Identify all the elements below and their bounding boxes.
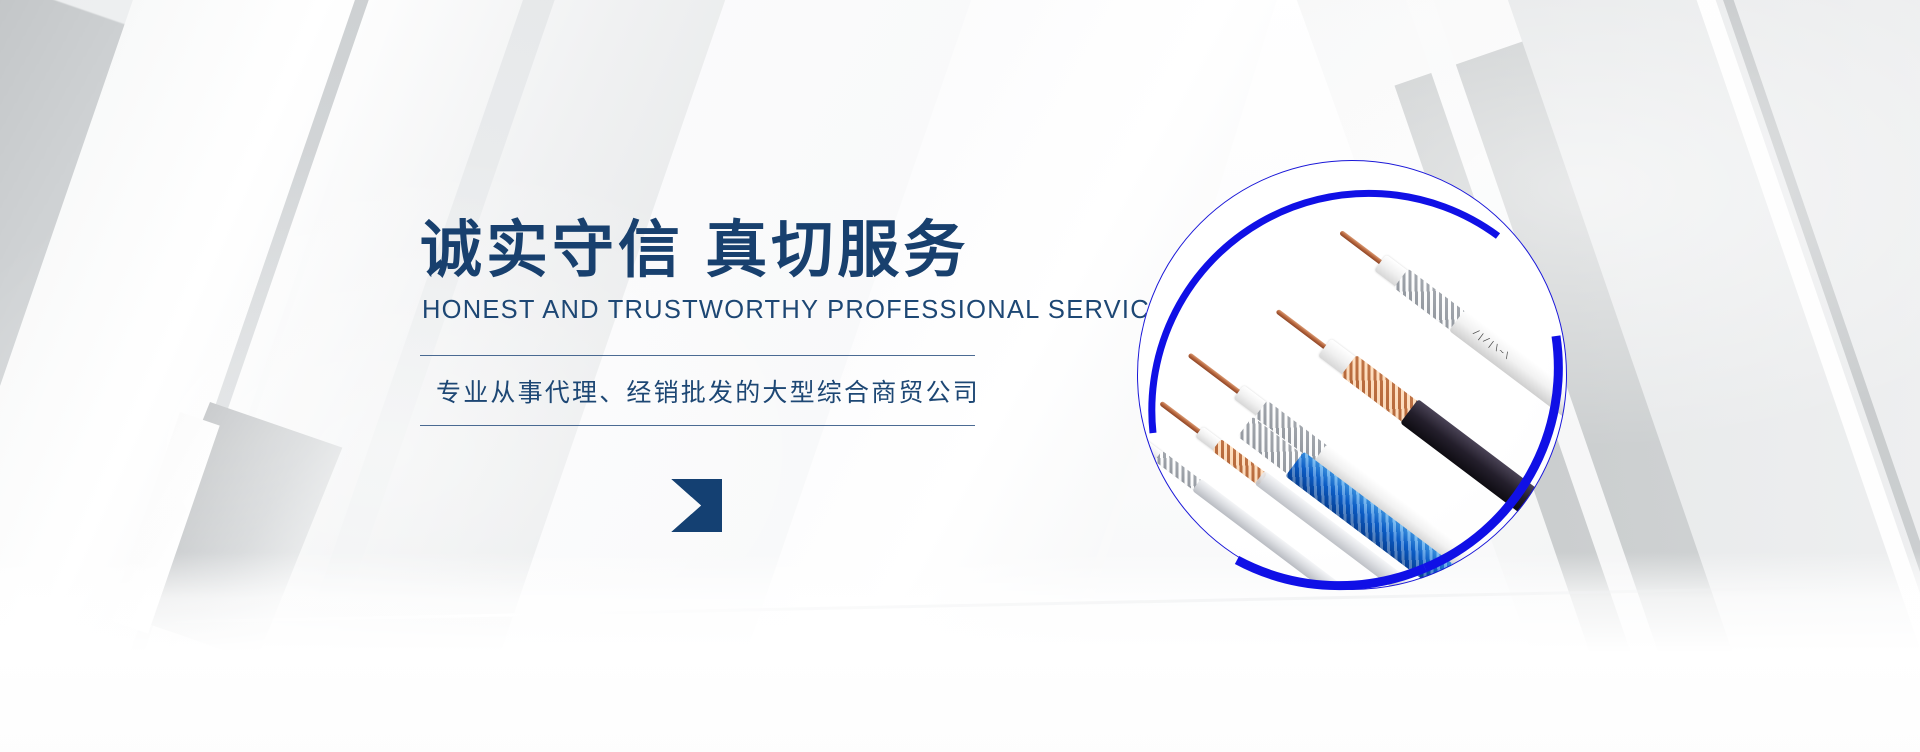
product-medallion: /|/|\~\	[1125, 148, 1579, 602]
page-title: 诚实守信 真切服务	[420, 218, 1040, 284]
subtitle-english: HONEST AND TRUSTWORTHY PROFESSIONAL SERV…	[422, 296, 1040, 325]
divider-top	[420, 355, 975, 356]
cable-printed-white: /|/|\~\	[1337, 225, 1567, 446]
bg-glossy-floor	[0, 552, 1920, 752]
medallion-disc: /|/|\~\	[1137, 160, 1567, 590]
description-block: 专业从事代理、经销批发的大型综合商贸公司	[420, 355, 975, 426]
divider-bottom	[420, 425, 975, 426]
banner-text-block: 诚实守信 真切服务 HONEST AND TRUSTWORTHY PROFESS…	[420, 218, 1040, 426]
description-text: 专业从事代理、经销批发的大型综合商贸公司	[420, 356, 975, 425]
promo-banner: 诚实守信 真切服务 HONEST AND TRUSTWORTHY PROFESS…	[0, 0, 1920, 752]
